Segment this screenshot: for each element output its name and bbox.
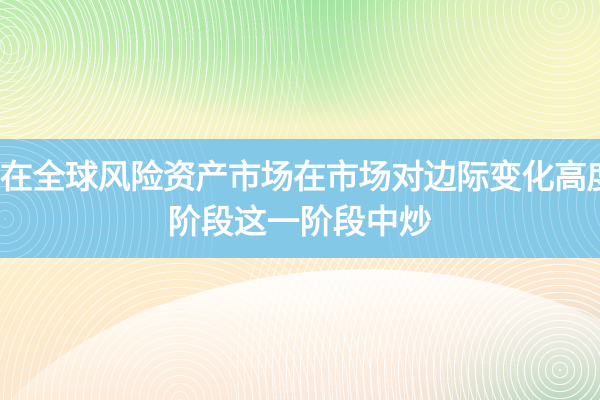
banner-image: 在全球风险资产市场在市场对边际变化高度敏感的 阶段这一阶段中炒 [0, 0, 600, 400]
headline-band: 在全球风险资产市场在市场对边际变化高度敏感的 阶段这一阶段中炒 [0, 139, 600, 258]
top-gradient-region [0, 0, 600, 139]
headline-line-1: 在全球风险资产市场在市场对边际变化高度敏感的 [0, 154, 600, 199]
headline-line-2: 阶段这一阶段中炒 [0, 199, 600, 244]
top-right-wash [340, 0, 600, 139]
bottom-gradient-region [0, 258, 600, 400]
